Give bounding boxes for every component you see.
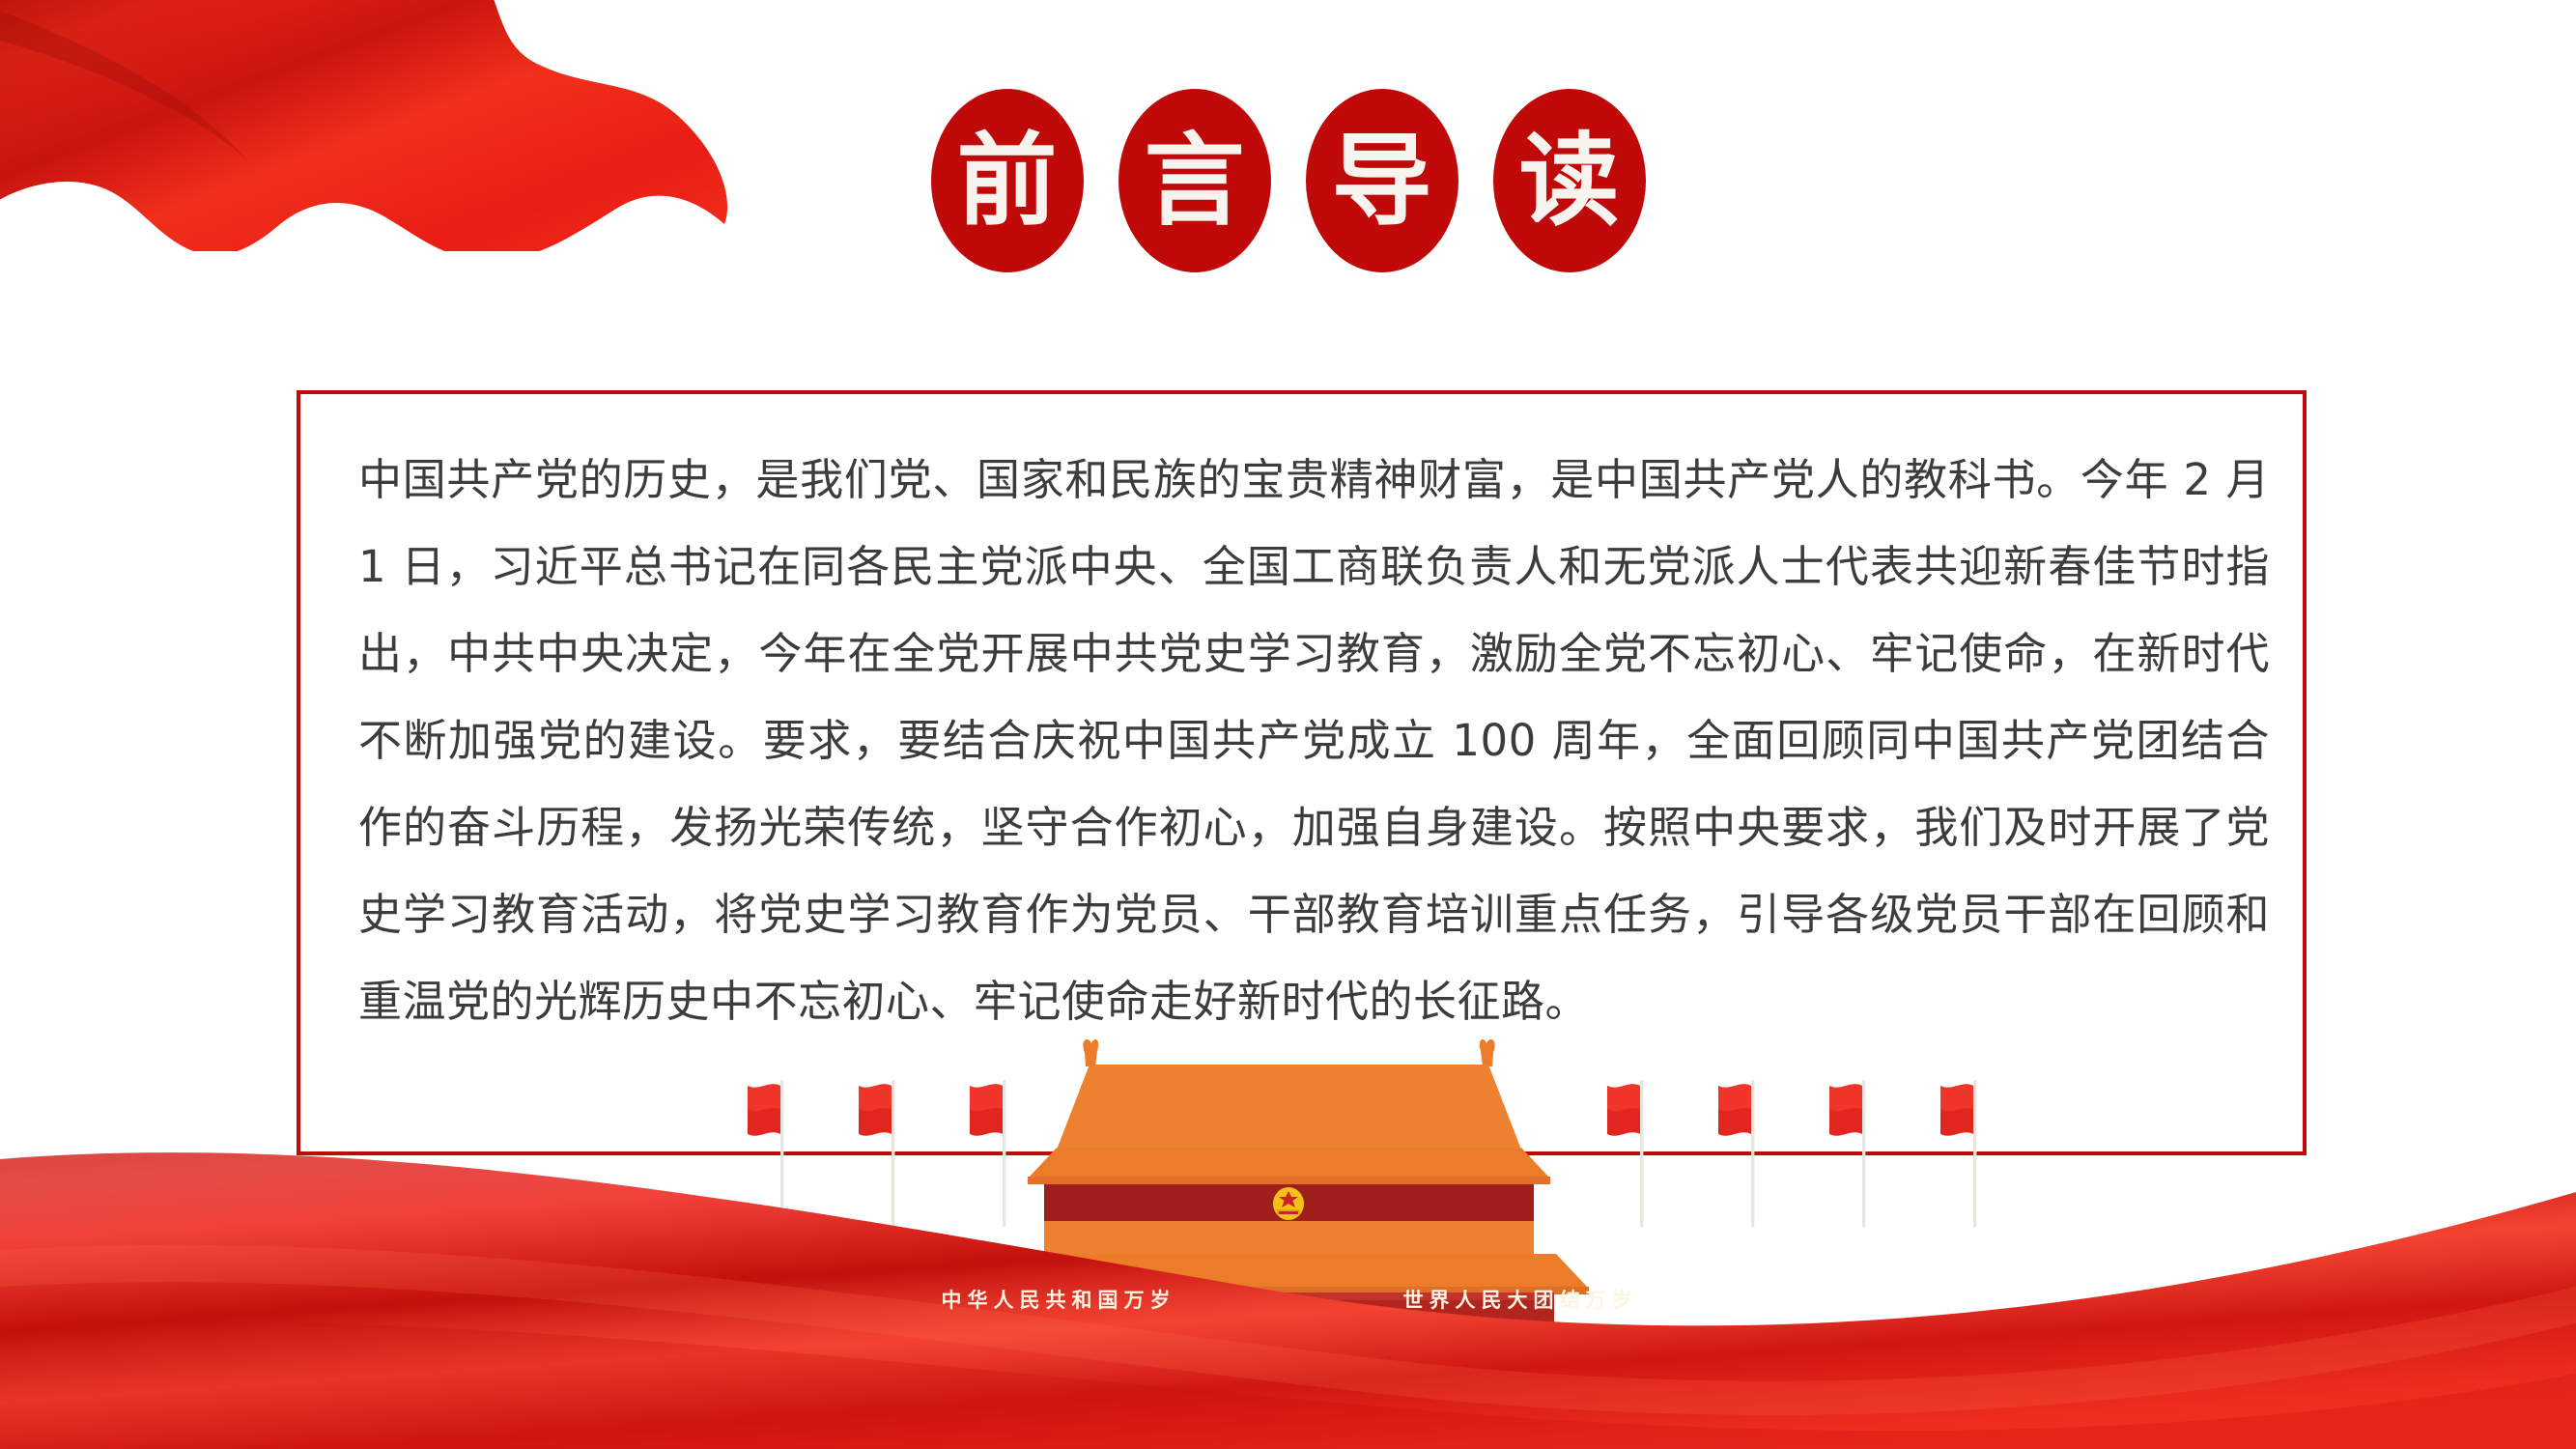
bottom-red-silk-wave [0, 1152, 2576, 1449]
banner-right-text: 世界人民大团结万岁 [1375, 1284, 1665, 1317]
content-panel: 中国共产党的历史，是我们党、国家和民族的宝贵精神财富，是中国共产党人的教科书。今… [297, 390, 2307, 1155]
lantern-row [1058, 1333, 1521, 1381]
title-badge-1: 前 [931, 89, 1084, 272]
title-badge-4: 读 [1493, 89, 1646, 272]
banner-left-text: 中华人民共和国万岁 [914, 1284, 1203, 1317]
slide-root: { "theme": { "brand_red": "#c00a0a", "ri… [0, 0, 2576, 1449]
title-badge-3: 导 [1306, 89, 1458, 272]
national-emblem [1273, 1187, 1304, 1220]
gate-base-platform [744, 1418, 2538, 1449]
page-title: 前 言 导 读 [0, 89, 2576, 272]
body-paragraph: 中国共产党的历史，是我们党、国家和民族的宝贵精神财富，是中国共产党人的教科书。今… [358, 437, 2270, 1045]
gate-upper-band [1044, 1184, 1534, 1223]
title-badge-2: 言 [1118, 89, 1271, 272]
